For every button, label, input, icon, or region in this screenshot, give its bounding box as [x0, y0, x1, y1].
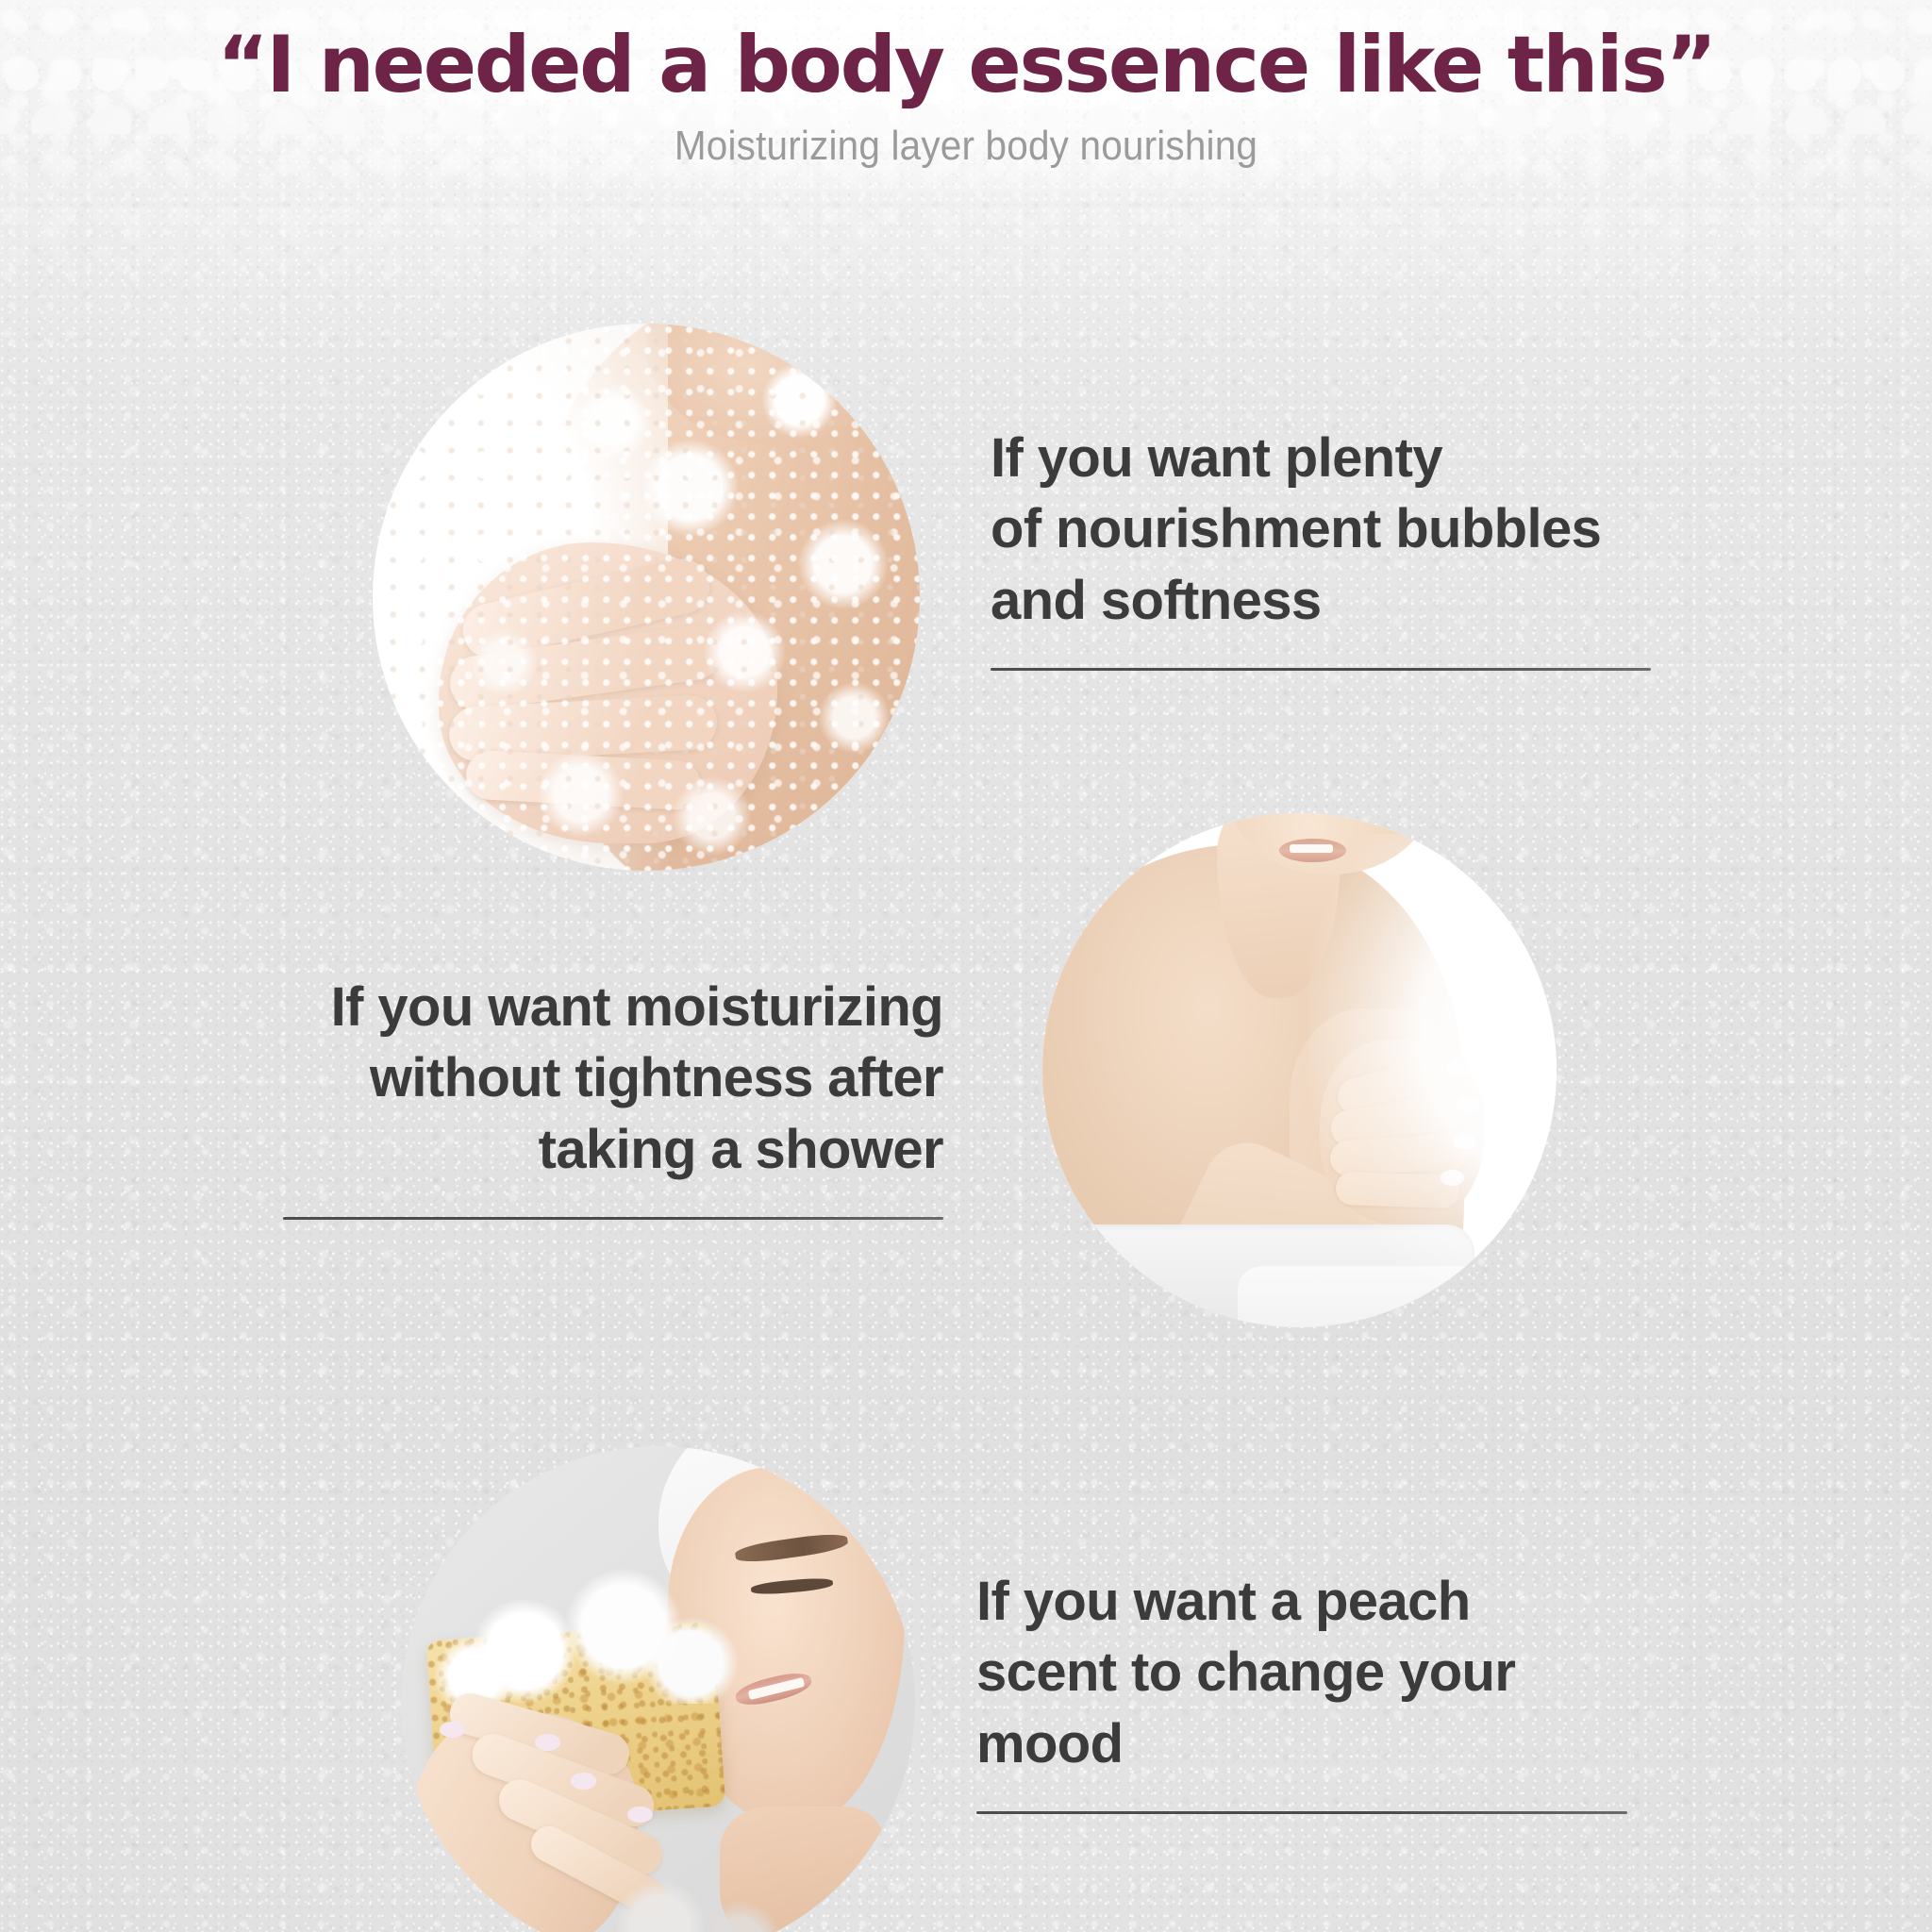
- benefit-divider: [976, 1811, 1627, 1814]
- infographic-page: “I needed a body essence like this” Mois…: [0, 0, 1932, 1932]
- benefit-block-scent: If you want a peach scent to change your…: [976, 1566, 1627, 1814]
- benefit-line-3: taking a shower: [283, 1114, 943, 1185]
- fingernail-3: [571, 1773, 596, 1789]
- light-glow: [1309, 834, 1557, 1307]
- benefit-line-3: mood: [976, 1708, 1627, 1779]
- benefit-line-2: without tightness after: [283, 1042, 943, 1113]
- header: “I needed a body essence like this” Mois…: [0, 0, 1932, 170]
- foam-texture-fine: [0, 0, 1932, 1932]
- fingernail-4: [627, 1807, 653, 1823]
- benefit-divider: [991, 668, 1651, 671]
- photo-sponge-face: [401, 1446, 915, 1932]
- fingernail-1: [440, 1722, 465, 1738]
- fingernail-2: [535, 1734, 560, 1750]
- photo-foam-lather: [373, 324, 920, 871]
- benefit-line-1: If you want moisturizing: [283, 972, 943, 1042]
- benefit-line-2: scent to change your: [976, 1637, 1627, 1707]
- sponge-foam: [432, 1549, 741, 1704]
- benefit-block-bubbles: If you want plenty of nourishment bubble…: [991, 423, 1651, 671]
- page-title: “I needed a body essence like this”: [0, 0, 1932, 108]
- benefit-line-3: and softness: [991, 565, 1651, 636]
- page-subtitle: Moisturizing layer body nourishing: [77, 108, 1855, 170]
- foam-texture-mid: [0, 0, 1932, 1932]
- benefit-line-1: If you want a peach: [976, 1566, 1627, 1637]
- page-vignette: [0, 0, 1932, 1932]
- soap-bubbles: [373, 324, 920, 871]
- benefit-divider: [283, 1217, 943, 1220]
- benefit-line-1: If you want plenty: [991, 423, 1651, 493]
- photo-shoulder-towel: [1042, 813, 1557, 1327]
- benefit-line-2: of nourishment bubbles: [991, 493, 1651, 564]
- benefit-block-shower: If you want moisturizing without tightne…: [283, 972, 943, 1220]
- bottom-foam: [565, 1868, 802, 1932]
